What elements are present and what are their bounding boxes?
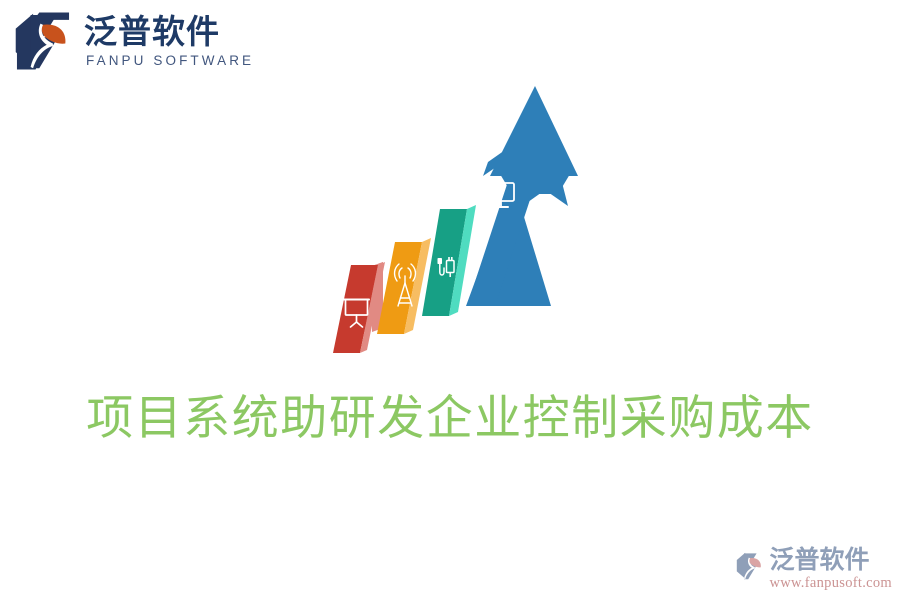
page-title: 项目系统助研发企业控制采购成本 [0, 392, 900, 446]
brand-header: 泛普软件 FANPU SOFTWARE [12, 10, 254, 72]
bar-3-teal [422, 205, 476, 316]
footer-watermark: 泛普软件 www.fanpusoft.com [735, 548, 892, 592]
ascending-growth-arrow-graphic [300, 76, 600, 376]
fanpu-logo-mark [12, 10, 74, 72]
fanpu-watermark-mark [735, 551, 765, 581]
watermark-url: www.fanpusoft.com [769, 575, 892, 592]
watermark-wordmark: 泛普软件 www.fanpusoft.com [769, 548, 892, 592]
brand-wordmark: 泛普软件 FANPU SOFTWARE [84, 13, 254, 69]
bar-4-blue-arrow [466, 86, 578, 306]
watermark-brand-cn: 泛普软件 [769, 548, 892, 573]
bar-2-orange [377, 238, 431, 334]
bar-1-red [333, 262, 385, 353]
brand-name-en: FANPU SOFTWARE [84, 53, 254, 69]
brand-name-cn: 泛普软件 [84, 15, 254, 50]
